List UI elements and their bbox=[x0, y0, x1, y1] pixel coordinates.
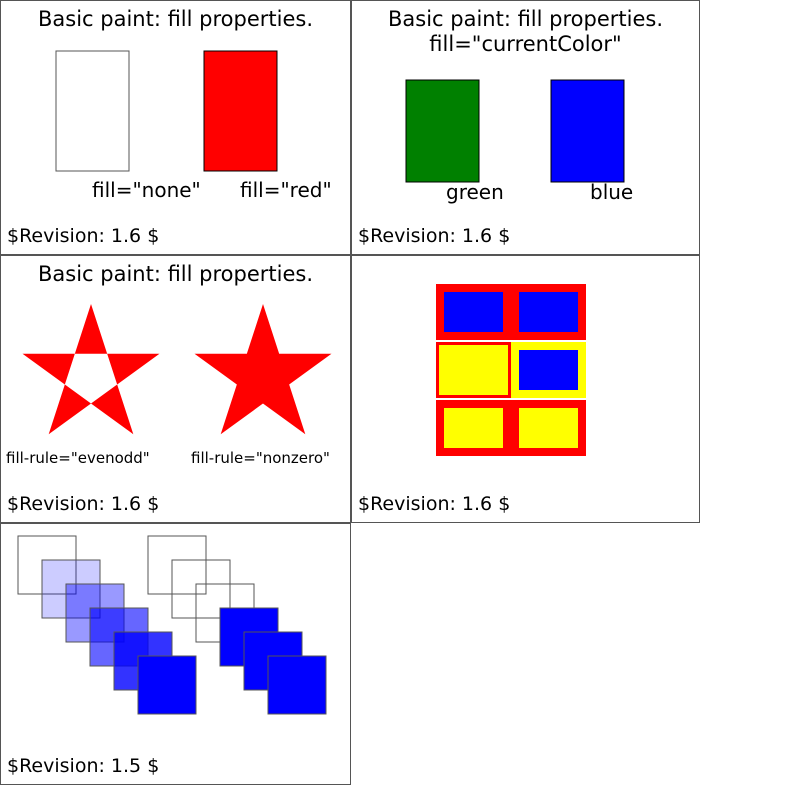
revision-text: $Revision: 1.6 $ bbox=[358, 493, 510, 515]
shape-label: fill-rule="evenodd" bbox=[6, 449, 150, 467]
panel-subtitle: fill="currentColor" bbox=[429, 32, 621, 56]
revision-text: $Revision: 1.6 $ bbox=[358, 225, 510, 247]
panel-paint-fill-opacity[interactable]: $Revision: 1.5 $ bbox=[0, 523, 351, 785]
svg-test-contact-sheet: Basic paint: fill properties.fill="none"… bbox=[0, 0, 800, 800]
grid-cell-r2c1 bbox=[438, 344, 510, 397]
rect-fill-none bbox=[56, 51, 129, 171]
panel-title: Basic paint: fill properties. bbox=[388, 7, 663, 31]
panel-canvas: Basic paint: fill properties.fill="curre… bbox=[352, 1, 699, 254]
revision-text: $Revision: 1.5 $ bbox=[7, 755, 159, 777]
star-evenodd bbox=[23, 304, 160, 434]
stepped-square-5 bbox=[268, 656, 326, 714]
shape-label: fill="red" bbox=[240, 178, 332, 202]
revision-text: $Revision: 1.6 $ bbox=[7, 225, 159, 247]
panel-paint-fill-01[interactable]: Basic paint: fill properties.fill="none"… bbox=[0, 0, 351, 255]
rect-fill-blue bbox=[551, 80, 624, 182]
rect-fill-green bbox=[406, 80, 479, 182]
panel-canvas: Basic paint: fill properties.fill-rule="… bbox=[1, 256, 350, 522]
panel-paint-fill-02[interactable]: Basic paint: fill properties.fill="curre… bbox=[351, 0, 700, 255]
shape-label: fill-rule="nonzero" bbox=[191, 449, 330, 467]
grid-cell-r2c2 bbox=[515, 346, 582, 394]
rect-fill-red bbox=[204, 51, 277, 171]
opacity-square-5 bbox=[138, 656, 196, 714]
grid-cell-r3c1 bbox=[440, 404, 507, 452]
shape-label: blue bbox=[590, 180, 633, 204]
grid-cell-r1c1 bbox=[440, 288, 507, 336]
panel-paint-stroke-grid[interactable]: $Revision: 1.6 $ bbox=[351, 255, 700, 523]
star-nonzero bbox=[195, 304, 332, 434]
panel-canvas: $Revision: 1.5 $ bbox=[1, 524, 350, 784]
revision-text: $Revision: 1.6 $ bbox=[7, 493, 159, 515]
panel-paint-fill-03[interactable]: Basic paint: fill properties.fill-rule="… bbox=[0, 255, 351, 523]
panel-title: Basic paint: fill properties. bbox=[38, 262, 313, 286]
grid-cell-r3c2 bbox=[515, 404, 582, 452]
shape-label: green bbox=[446, 180, 504, 204]
panel-canvas: $Revision: 1.6 $ bbox=[352, 256, 699, 522]
grid-cell-r1c2 bbox=[515, 288, 582, 336]
shape-label: fill="none" bbox=[92, 178, 201, 202]
panel-title: Basic paint: fill properties. bbox=[38, 7, 313, 31]
panel-canvas: Basic paint: fill properties.fill="none"… bbox=[1, 1, 350, 254]
